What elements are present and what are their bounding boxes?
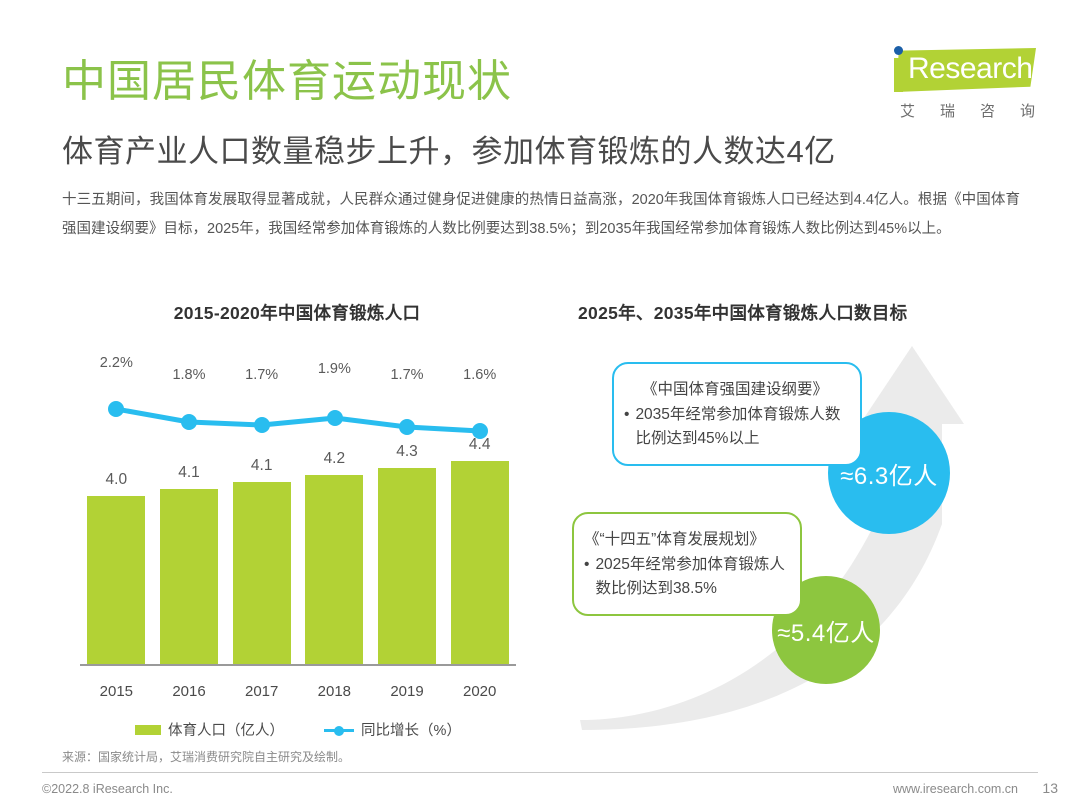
- x-label-2019: 2019: [371, 683, 444, 700]
- logo-cn-char-2: 瑞: [940, 100, 956, 121]
- line-label-2015: 2.2%: [80, 355, 153, 371]
- source-note: 来源：国家统计局，艾瑞消费研究院自主研究及绘制。: [62, 748, 350, 765]
- right-target-panel: 2025年、2035年中国体育锻炼人口数目标 ≈6.3亿人 ≈5.4亿人 《中国…: [560, 300, 1020, 730]
- x-label-2016: 2016: [153, 683, 226, 700]
- bar-label-2020: 4.4: [443, 436, 516, 454]
- bar-label-2016: 4.1: [153, 464, 226, 482]
- line-point-2015: [108, 401, 124, 417]
- bullet-dot-icon: •: [624, 403, 629, 450]
- line-label-2020: 1.6%: [443, 367, 516, 383]
- line-value-labels: 2.2% 1.8% 1.7% 1.9% 1.7% 1.6%: [80, 367, 516, 383]
- legend-label-population: 体育人口（亿人）: [168, 719, 284, 740]
- footer-divider: [42, 772, 1038, 773]
- callout-green-heading: 《“十四五”体育发展规划》: [584, 528, 788, 551]
- bar-2015: [87, 496, 145, 664]
- line-point-2018: [327, 410, 343, 426]
- line-label-2019: 1.7%: [371, 367, 444, 383]
- x-label-2020: 2020: [443, 683, 516, 700]
- x-axis-labels: 2015 2016 2017 2018 2019 2020: [80, 683, 516, 700]
- legend-line-swatch-icon: [324, 725, 354, 735]
- line-label-2017: 1.7%: [225, 367, 298, 383]
- callout-green-bullet-row: • 2025年经常参加体育锻炼人数比例达到38.5%: [584, 553, 788, 600]
- callout-2025-plan: 《“十四五”体育发展规划》 • 2025年经常参加体育锻炼人数比例达到38.5%: [572, 512, 802, 616]
- bar-column-2018: 4.2: [298, 454, 371, 664]
- x-label-2015: 2015: [80, 683, 153, 700]
- bar-label-2015: 4.0: [80, 471, 153, 489]
- callout-2035-plan: 《中国体育强国建设纲要》 • 2035年经常参加体育锻炼人数比例达到45%以上: [612, 362, 862, 466]
- logo-cn-char-3: 咨: [980, 100, 996, 121]
- logo-i-dot-icon: [894, 46, 903, 55]
- legend-item-growth: 同比增长（%）: [324, 719, 461, 740]
- website-url[interactable]: www.iresearch.com.cn: [893, 782, 1018, 796]
- logo-cn-char-1: 艾: [900, 100, 916, 121]
- x-label-2017: 2017: [225, 683, 298, 700]
- logo-wordmark: Research: [908, 52, 1032, 86]
- page-subtitle: 体育产业人口数量稳步上升，参加体育锻炼的人数达4亿: [62, 126, 836, 171]
- logo-i-stem-icon: [894, 58, 903, 92]
- logo-chinese-name: 艾 瑞 咨 询: [900, 100, 1036, 121]
- line-path: [116, 409, 480, 431]
- callout-blue-bullet-text: 2035年经常参加体育锻炼人数比例达到45%以上: [635, 403, 846, 450]
- logo-mark: Research: [878, 44, 1038, 96]
- page-number: 13: [1042, 780, 1058, 796]
- line-label-2018: 1.9%: [298, 361, 371, 377]
- bar-series: 4.0 4.1 4.1 4.2 4.3: [80, 454, 516, 664]
- chart-baseline-axis: [80, 664, 516, 666]
- chart-legend: 体育人口（亿人） 同比增长（%）: [80, 719, 516, 740]
- left-chart-title: 2015-2020年中国体育锻炼人口: [62, 300, 532, 325]
- logo-cn-char-4: 询: [1020, 100, 1036, 121]
- bar-2017: [233, 482, 291, 664]
- line-point-2017: [254, 417, 270, 433]
- callout-blue-bullet-row: • 2035年经常参加体育锻炼人数比例达到45%以上: [624, 403, 846, 450]
- slide-page: Research 艾 瑞 咨 询 中国居民体育运动现状 体育产业人口数量稳步上升…: [0, 0, 1080, 810]
- line-point-2019: [399, 419, 415, 435]
- bar-column-2017: 4.1: [225, 454, 298, 664]
- bar-label-2018: 4.2: [298, 450, 371, 468]
- bar-2019: [378, 468, 436, 664]
- iresearch-logo: Research 艾 瑞 咨 询: [878, 44, 1038, 126]
- line-label-2016: 1.8%: [153, 367, 226, 383]
- bar-2018: [305, 475, 363, 664]
- bar-label-2017: 4.1: [225, 457, 298, 475]
- x-label-2018: 2018: [298, 683, 371, 700]
- bar-column-2019: 4.3: [371, 454, 444, 664]
- legend-label-growth: 同比增长（%）: [361, 719, 461, 740]
- line-point-2016: [181, 414, 197, 430]
- callout-blue-heading: 《中国体育强国建设纲要》: [624, 378, 846, 401]
- right-panel-title: 2025年、2035年中国体育锻炼人口数目标: [560, 300, 1020, 325]
- body-paragraph: 十三五期间，我国体育发展取得显著成就，人民群众通过健身促进健康的热情日益高涨，2…: [62, 186, 1020, 244]
- bar-2016: [160, 489, 218, 664]
- bar-column-2016: 4.1: [153, 454, 226, 664]
- bar-column-2020: 4.4: [443, 454, 516, 664]
- copyright-text: ©2022.8 iResearch Inc.: [42, 782, 173, 796]
- bar-2020: [451, 461, 509, 664]
- callout-green-bullet-text: 2025年经常参加体育锻炼人数比例达到38.5%: [595, 553, 788, 600]
- bar-column-2015: 4.0: [80, 454, 153, 664]
- legend-bar-swatch-icon: [135, 725, 161, 735]
- legend-item-population: 体育人口（亿人）: [135, 719, 284, 740]
- left-chart-area: 2.2% 1.8% 1.7% 1.9% 1.7% 1.6% 4.0: [62, 349, 532, 744]
- bullet-dot-icon: •: [584, 553, 589, 600]
- bubble-green-value: ≈5.4亿人: [777, 613, 875, 648]
- bar-label-2019: 4.3: [371, 443, 444, 461]
- left-chart-panel: 2015-2020年中国体育锻炼人口 2.2% 1.8% 1.7% 1.9% 1…: [62, 300, 532, 730]
- page-title: 中国居民体育运动现状: [62, 58, 512, 106]
